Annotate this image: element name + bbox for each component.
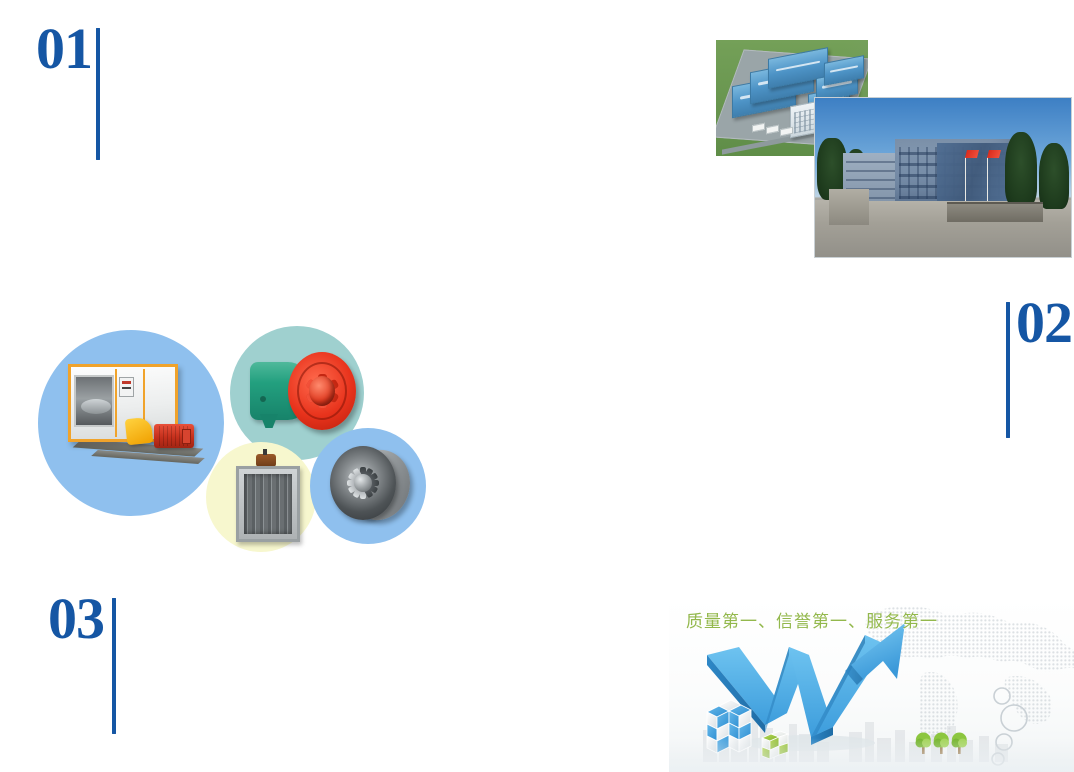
- cabinet-control-box: [119, 377, 134, 397]
- photo-flagpole: [987, 157, 988, 201]
- office-building-photo: [814, 97, 1072, 258]
- section-marker-03: 03: [48, 592, 116, 734]
- cabinet-fan-wheel: [81, 399, 111, 414]
- section-divider-bar-01: [96, 28, 100, 160]
- cabinet-panel-seam: [115, 369, 117, 437]
- banner-slogan-text: 质量第一、信誉第一、服务第一: [686, 607, 938, 632]
- axial-fan-mount-foot: [260, 414, 278, 428]
- factory-photo-group: [716, 40, 1070, 256]
- photo-gatehouse: [829, 189, 869, 225]
- photo-tree: [1039, 143, 1069, 209]
- impeller-hub: [354, 474, 372, 492]
- damper-blades: [244, 474, 292, 534]
- page-root: 01: [0, 0, 1074, 772]
- section-divider-bar-03: [112, 598, 116, 734]
- cabinet-fan-inlet: [74, 375, 114, 427]
- section-number-02: 02: [1016, 296, 1072, 349]
- product-air-damper-valve: [234, 454, 300, 540]
- section-number-01: 01: [36, 22, 92, 75]
- photo-flag: [987, 150, 1001, 158]
- axial-fan-inner-rim: [297, 362, 347, 420]
- product-cabinet-centrifugal-fan: [62, 358, 212, 488]
- section-marker-01: 01: [36, 22, 100, 160]
- growth-banner-image: 质量第一、信誉第一、服务第一: [669, 597, 1074, 772]
- banner-floor-glow: [669, 738, 1074, 772]
- photo-boundary-wall: [947, 202, 1043, 222]
- section-divider-bar-02: [1006, 302, 1010, 438]
- cabinet-electric-motor: [154, 424, 194, 448]
- photo-flag: [965, 150, 979, 158]
- photo-flagpole: [965, 157, 966, 201]
- product-axial-flow-fan: [244, 344, 360, 448]
- photo-tree: [1005, 132, 1037, 206]
- axial-fan-impeller-ring: [288, 352, 356, 430]
- section-marker-02: 02: [1006, 296, 1072, 438]
- section-number-03: 03: [48, 592, 104, 645]
- product-metal-impeller-fan: [326, 444, 422, 530]
- damper-frame: [236, 466, 300, 542]
- product-photo-group: [34, 322, 424, 552]
- impeller-disc: [330, 446, 396, 520]
